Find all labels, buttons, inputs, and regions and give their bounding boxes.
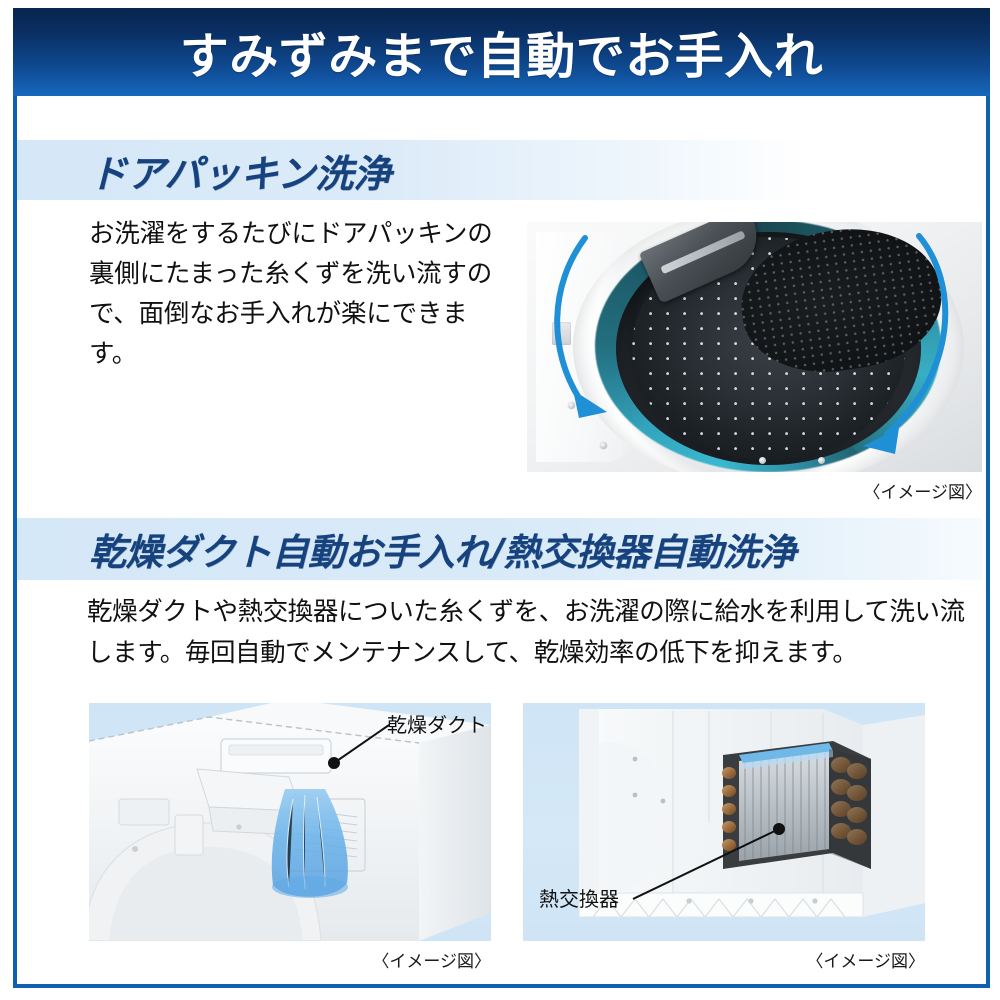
figure-heat-exchanger-caption: 〈イメージ図〉 (806, 947, 925, 972)
figure-drying-duct: 乾燥ダクト 〈イメージ図〉 (89, 703, 491, 941)
section-1-body-text: お洗濯をするたびにドアパッキンの裏側にたまった糸くずを洗い流すので、面倒なお手入… (89, 214, 499, 374)
heat-exchanger-label: 熱交換器 (539, 883, 619, 912)
drying-duct-label: 乾燥ダクト (387, 709, 487, 738)
heat-exchanger-image: 熱交換器 (523, 703, 925, 941)
figure-drying-duct-caption: 〈イメージ図〉 (372, 947, 491, 972)
water-flow-arrows (527, 222, 982, 472)
drying-duct-illustration (89, 703, 491, 941)
drum-photo-image (527, 222, 982, 472)
content-frame: ドアパッキン洗浄 お洗濯をするたびにドアパッキンの裏側にたまった糸くずを洗い流す… (13, 96, 990, 988)
figure-drum-caption: 〈イメージ図〉 (863, 478, 982, 503)
header-banner: すみずみまで自動でお手入れ (13, 8, 990, 96)
figure-heat-exchanger: 熱交換器 〈イメージ図〉 (523, 703, 925, 941)
section-2-heading-band: 乾燥ダクト自動お手入れ/熱交換器自動洗浄 (17, 518, 982, 580)
page-title: すみずみまで自動でお手入れ (180, 17, 824, 88)
figure-drum: 〈イメージ図〉 (527, 222, 982, 472)
section-2-body-text: 乾燥ダクトや熱交換器についた糸くずを、お洗濯の際に給水を利用して洗い流します。毎… (87, 592, 967, 674)
section-2-heading: 乾燥ダクト自動お手入れ/熱交換器自動洗浄 (89, 522, 796, 576)
feature-panel: すみずみまで自動でお手入れ ドアパッキン洗浄 お洗濯をするたびにドアパッキンの裏… (0, 0, 1000, 1000)
drying-duct-image: 乾燥ダクト (89, 703, 491, 941)
section-1-heading: ドアパッキン洗浄 (89, 143, 391, 198)
section-1-heading-band: ドアパッキン洗浄 (17, 140, 807, 200)
